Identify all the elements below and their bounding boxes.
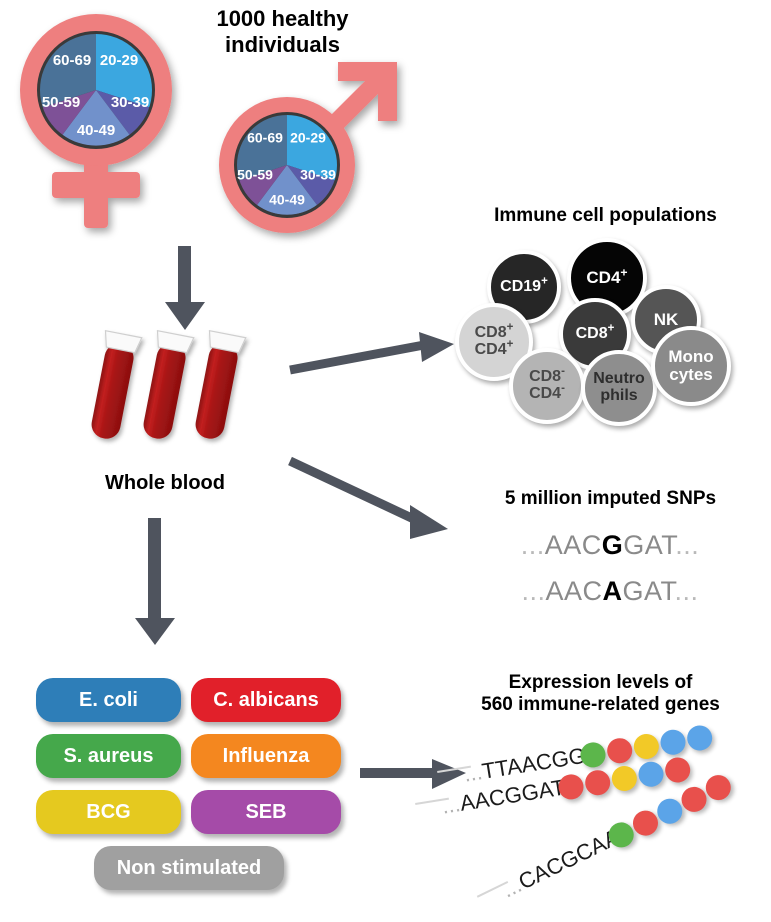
snp-ellipsis-right: ... [675,576,699,606]
cell-label-line: phils [600,388,637,405]
svg-text:50-59: 50-59 [237,167,273,183]
stimulus-influenza[interactable]: Influenza [191,734,341,778]
gene-bead [632,732,661,761]
gene-bead [663,756,692,785]
cell-label-line: CD8- [529,369,565,386]
arrow-blood-to-snps [288,455,463,545]
svg-text:30-39: 30-39 [300,167,336,183]
stimulus-bcg[interactable]: BCG [36,790,181,834]
immune-cell-monocytes: Monocytes [651,326,731,406]
snp-flank-right: GAT [623,576,675,606]
stimulus-label: Influenza [223,745,310,768]
gene-bead [579,741,608,770]
snp-flank-right: GAT [623,530,675,560]
stimulus-c-albicans[interactable]: C. albicans [191,678,341,722]
snp-ellipsis-right: ... [675,530,699,560]
cell-label-line: Mono [668,348,713,366]
figure-canvas: 1000 healthy individuals [0,0,771,922]
arrow-blood-to-stimuli [130,518,180,648]
arrow-blood-to-immune [288,330,458,382]
snp-variant-base: A [603,576,623,606]
snp-sequence-row: ...AACGGAT... [470,530,750,561]
svg-text:40-49: 40-49 [269,192,305,208]
snp-sequence-row: ...AACAGAT... [470,576,750,607]
stimulus-label: BCG [86,801,130,824]
gene-bead [685,724,714,753]
svg-text:20-29: 20-29 [290,130,326,146]
gene-bead [605,736,634,765]
arrow-cohort-to-blood [160,246,210,332]
gene-bead [610,764,639,793]
gene-bead [583,768,612,797]
immune-cell-title: Immune cell populations [440,205,771,227]
immune-cell-cd8-cd4: CD8-CD4- [509,348,585,424]
stimulus-label: Non stimulated [117,857,261,880]
svg-text:60-69: 60-69 [53,52,91,69]
snp-flank-left: AAC [545,530,602,560]
stimulus-s-aureus[interactable]: S. aureus [36,734,181,778]
stimulus-non-stimulated[interactable]: Non stimulated [94,846,284,890]
cell-label-line: CD4+ [586,269,627,287]
cell-label-line: Neutro [593,371,645,388]
svg-text:40-49: 40-49 [77,122,115,139]
stimulus-label: C. albicans [213,689,319,712]
snp-flank-left: AAC [545,576,602,606]
snp-variant-base: G [602,530,624,560]
cell-label-line: cytes [669,366,712,384]
stimulus-label: E. coli [79,689,138,712]
cell-label-line: CD8+ [576,326,615,343]
immune-cell-neutrophils: Neutrophils [581,350,657,426]
cell-label-line: CD19+ [500,279,548,296]
gene-bead [557,773,586,802]
stimulus-seb[interactable]: SEB [191,790,341,834]
gene-expression-illustration: ...TTAACGG...AACGGAT...CACGCAA [440,730,771,910]
snp-sequence-illustration: ...AACGGAT......AACAGAT... [470,530,750,620]
cell-label-line: CD4+ [475,342,514,359]
whole-blood-label: Whole blood [60,472,270,496]
male-gender-symbol: 20-29 30-39 40-49 50-59 60-69 [205,60,405,250]
svg-text:20-29: 20-29 [100,52,138,69]
snp-ellipsis-left: ... [521,530,545,560]
gene-bead [659,728,688,757]
svg-text:60-69: 60-69 [247,130,283,146]
blood-tubes-illustration [96,330,276,460]
svg-text:50-59: 50-59 [42,94,80,111]
svg-text:30-39: 30-39 [111,94,149,111]
stimulus-e-coli[interactable]: E. coli [36,678,181,722]
snp-ellipsis-left: ... [521,576,545,606]
female-gender-symbol: 20-29 30-39 40-49 50-59 60-69 [6,12,206,242]
gene-bead [637,760,666,789]
expression-title: Expression levels of 560 immune-related … [430,672,771,717]
cell-label-line: NK [654,311,679,329]
stimulus-label: S. aureus [63,745,153,768]
immune-cell-cluster: CD19+CD4+CD8+CD4+CD8+NKCD8-CD4-Neutrophi… [455,238,771,433]
strand-sequence: ...CACGCAA [498,824,624,903]
cell-label-line: CD4- [529,386,565,403]
snps-title: 5 million imputed SNPs [450,488,771,510]
stimulus-label: SEB [245,801,286,824]
